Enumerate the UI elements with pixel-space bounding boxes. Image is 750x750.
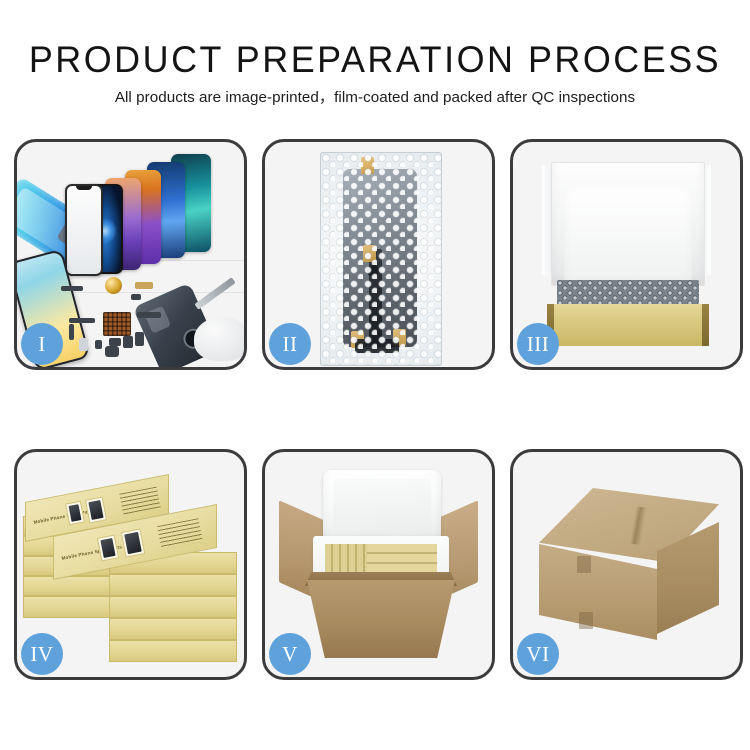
process-step-2[interactable]: II — [262, 139, 495, 370]
part-strip-1 — [61, 286, 83, 291]
part-strip-2 — [135, 282, 153, 289]
white-foam-pad — [551, 162, 705, 286]
box-edge-9 — [109, 618, 237, 640]
step-badge: VI — [517, 633, 559, 675]
part-small-3 — [109, 338, 121, 346]
tweezers-tool — [194, 277, 235, 310]
hand — [194, 317, 244, 361]
notch-icon — [76, 186, 92, 190]
page-title: PRODUCT PREPARATION PROCESS — [11, 40, 739, 80]
carton-body — [307, 580, 455, 658]
yellow-box-tray — [547, 304, 709, 346]
gold-coil-part — [105, 277, 122, 294]
foam-cooler-lid — [323, 470, 441, 542]
page-header: PRODUCT PREPARATION PROCESS All products… — [0, 0, 750, 128]
process-step-3[interactable]: III — [510, 139, 743, 370]
part-small-2 — [95, 340, 102, 349]
step-badge: III — [517, 323, 559, 365]
process-step-6[interactable]: VI — [510, 449, 743, 680]
box-edge-4 — [23, 576, 119, 596]
part-small-1 — [79, 338, 88, 351]
part-cable-3 — [137, 312, 161, 318]
carton-front-face — [539, 544, 657, 640]
process-step-5[interactable]: V — [262, 449, 495, 680]
process-step-1[interactable]: I — [14, 139, 247, 370]
carton-tab-lower — [579, 612, 593, 629]
part-cable-2 — [69, 324, 74, 340]
process-step-grid: I II I — [14, 139, 736, 685]
step-badge: IV — [21, 633, 63, 675]
part-small-5 — [135, 332, 144, 346]
page-subtitle: All products are image-printed，film-coat… — [0, 88, 750, 108]
tempered-glass-sheet — [65, 184, 103, 276]
foam-pad-inner — [564, 187, 692, 281]
part-small-4 — [123, 336, 133, 348]
copper-chip-part — [103, 312, 131, 336]
bubble-wrap-bag — [320, 152, 442, 366]
box-edge-5 — [23, 596, 119, 618]
box-edge-10 — [109, 640, 237, 662]
box-stack: Mobile Phone Spare Parts Mobile Phone Sp… — [23, 474, 243, 664]
step-badge: II — [269, 323, 311, 365]
part-cable-1 — [69, 318, 95, 323]
part-strip-3 — [131, 294, 141, 300]
bubble-texture — [321, 153, 441, 365]
box-edge-8 — [109, 596, 237, 618]
process-step-4[interactable]: Mobile Phone Spare Parts Mobile Phone Sp… — [14, 449, 247, 680]
part-speaker — [105, 346, 119, 357]
phone-lineup — [83, 154, 243, 274]
step-badge: I — [21, 323, 63, 365]
carton-tab-upper — [577, 556, 591, 573]
step-badge: V — [269, 633, 311, 675]
box-edge-7 — [109, 574, 237, 596]
